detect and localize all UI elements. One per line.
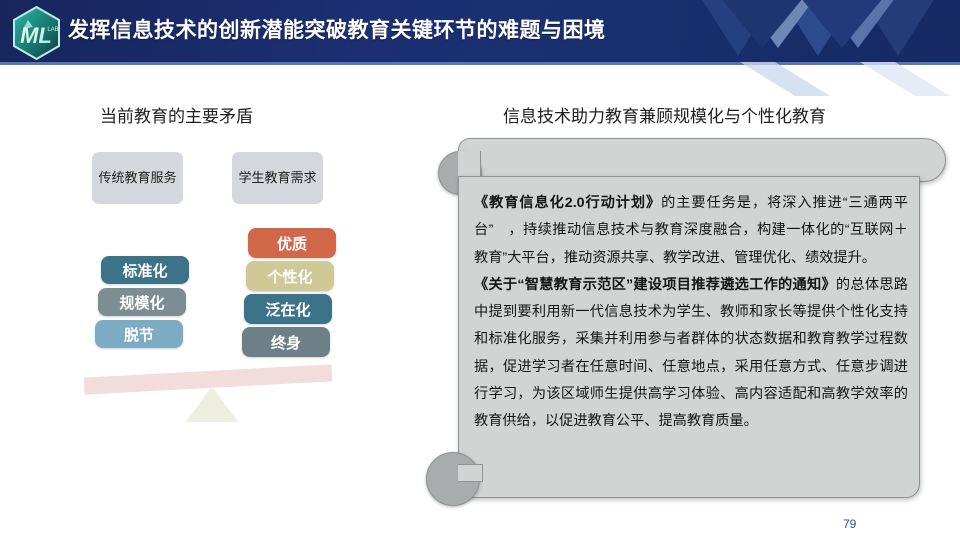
- tile-lifelong: 终身: [242, 327, 330, 357]
- tile-label: 规模化: [119, 292, 164, 313]
- tile-ubiquitous: 泛在化: [244, 294, 332, 324]
- concept-box-traditional-service: 传统教育服务: [92, 152, 183, 204]
- svg-text:LAB: LAB: [47, 27, 58, 33]
- page-title: 发挥信息技术的创新潜能突破教育关键环节的难题与困境: [68, 14, 606, 44]
- tile-quality: 优质: [248, 228, 336, 258]
- header-spill-decoration: [700, 62, 960, 96]
- tile-label: 脱节: [124, 324, 154, 345]
- paragraph-2-title: 《关于“智慧教育示范区”建设项目推荐遴选工作的通知》: [474, 277, 836, 293]
- tile-label: 优质: [277, 233, 307, 254]
- tile-personalization: 个性化: [246, 261, 334, 291]
- tile-label: 标准化: [122, 260, 167, 281]
- seesaw-fulcrum: [186, 386, 238, 422]
- header-chevron-decoration: [640, 0, 960, 62]
- paragraph-2: 《关于“智慧教育示范区”建设项目推荐遴选工作的通知》的总体思路中提到要利用新一代…: [474, 272, 908, 436]
- tile-label: 泛在化: [265, 299, 310, 320]
- tile-scale: 规模化: [98, 288, 186, 316]
- header-banner: ML LAB 发挥信息技术的创新潜能突破教育关键环节的难题与困境: [0, 0, 960, 62]
- paragraph-2-body: 的总体思路中提到要利用新一代信息技术为学生、教师和家长等提供个性化支持和标准化服…: [474, 277, 908, 429]
- tile-label: 个性化: [267, 266, 312, 287]
- scroll-paragraph-block: 《教育信息化2.0行动计划》的主要任务是，将深入推进“三通两平台” ，持续推动信…: [474, 190, 908, 435]
- tile-standardization: 标准化: [101, 256, 189, 284]
- concept-box-student-demand: 学生教育需求: [232, 152, 323, 204]
- tile-label: 终身: [271, 332, 301, 353]
- left-section-heading: 当前教育的主要矛盾: [100, 102, 253, 127]
- concept-box-label: 学生教育需求: [238, 170, 316, 187]
- scroll-panel: 《教育信息化2.0行动计划》的主要任务是，将深入推进“三通两平台” ，持续推动信…: [418, 138, 946, 510]
- concept-box-label: 传统教育服务: [98, 170, 176, 187]
- paragraph-1: 《教育信息化2.0行动计划》的主要任务是，将深入推进“三通两平台” ，持续推动信…: [474, 190, 908, 272]
- header-underline: [0, 62, 960, 65]
- right-section-heading: 信息技术助力教育兼顾规模化与个性化教育: [503, 102, 826, 127]
- page-number: 79: [843, 517, 856, 531]
- brand-logo-icon: ML LAB: [9, 5, 64, 61]
- paragraph-1-title: 《教育信息化2.0行动计划》: [474, 195, 661, 211]
- tile-disconnect: 脱节: [95, 320, 183, 348]
